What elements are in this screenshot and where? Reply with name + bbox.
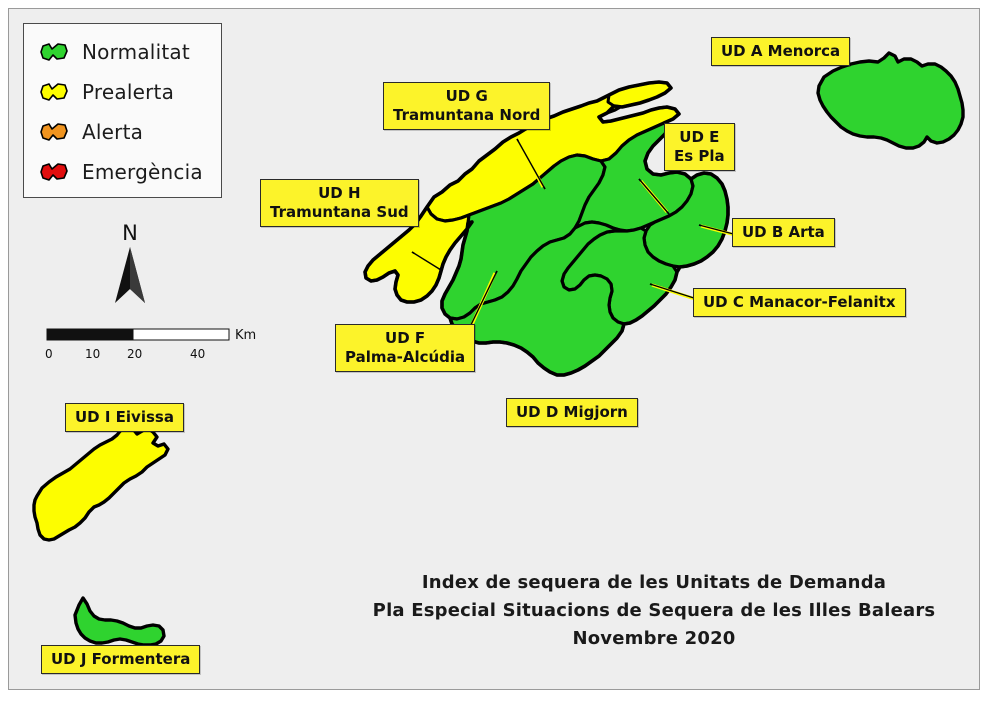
region-ud-a-menorca[interactable] bbox=[818, 53, 963, 148]
legend-item-normalitat: Normalitat bbox=[24, 32, 221, 72]
map-label-ud-c-manacor-felanitx[interactable]: UD C Manacor-Felanitx bbox=[693, 288, 906, 317]
legend-item-prealerta: Prealerta bbox=[24, 72, 221, 112]
polygon-swatch-icon bbox=[40, 81, 70, 103]
map-label-line1: UD A Menorca bbox=[721, 42, 840, 60]
map-label-line1: UD I Eivissa bbox=[75, 408, 174, 426]
map-label-line1: UD D Migjorn bbox=[516, 403, 628, 421]
map-label-ud-f-palma-alcudia[interactable]: UD F Palma-Alcúdia bbox=[335, 324, 475, 372]
map-label-line2: Es Pla bbox=[674, 147, 725, 166]
polygon-swatch-icon bbox=[40, 41, 70, 63]
map-label-line1: UD E bbox=[679, 128, 719, 146]
map-label-ud-i-eivissa[interactable]: UD I Eivissa bbox=[65, 403, 184, 432]
legend-label-normalitat: Normalitat bbox=[82, 40, 190, 64]
map-label-line2: Tramuntana Nord bbox=[393, 106, 540, 125]
map-label-ud-d-migjorn[interactable]: UD D Migjorn bbox=[506, 398, 638, 427]
map-label-line1: UD H bbox=[318, 184, 360, 202]
polygon-swatch-icon bbox=[40, 161, 70, 183]
map-label-ud-j-formentera[interactable]: UD J Formentera bbox=[41, 645, 200, 674]
scale-unit-label: Km bbox=[235, 328, 256, 343]
legend-label-prealerta: Prealerta bbox=[82, 80, 174, 104]
region-ud-i-eivissa[interactable] bbox=[34, 427, 168, 540]
map-label-line1: UD F bbox=[385, 329, 425, 347]
map-label-line1: UD C Manacor-Felanitx bbox=[703, 293, 896, 311]
scale-tick-0: 0 bbox=[45, 347, 53, 361]
scale-tick-10: 10 bbox=[85, 347, 100, 361]
title-line-3: Novembre 2020 bbox=[339, 625, 969, 653]
legend-panel: Normalitat Prealerta Alerta Emergència bbox=[23, 23, 222, 198]
scale-bar-labels: 0 10 20 40 Km bbox=[45, 327, 245, 367]
scale-tick-20: 20 bbox=[127, 347, 142, 361]
north-arrow-icon bbox=[95, 223, 165, 315]
legend-label-alerta: Alerta bbox=[82, 120, 143, 144]
scale-tick-40: 40 bbox=[190, 347, 205, 361]
map-label-line1: UD G bbox=[446, 87, 488, 105]
legend-label-emergencia: Emergència bbox=[82, 160, 203, 184]
map-label-ud-e-es-pla[interactable]: UD E Es Pla bbox=[664, 123, 735, 171]
region-ud-j-formentera[interactable] bbox=[75, 598, 164, 645]
map-label-line2: Palma-Alcúdia bbox=[345, 348, 465, 367]
map-label-line2: Tramuntana Sud bbox=[270, 203, 409, 222]
title-line-1: Index de sequera de les Unitats de Deman… bbox=[339, 569, 969, 597]
legend-item-alerta: Alerta bbox=[24, 112, 221, 152]
map-label-line1: UD J Formentera bbox=[51, 650, 190, 668]
polygon-swatch-icon bbox=[40, 121, 70, 143]
map-label-line1: UD B Arta bbox=[742, 223, 825, 241]
map-label-ud-h-tramuntana-sud[interactable]: UD H Tramuntana Sud bbox=[260, 179, 419, 227]
map-title-block: Index de sequera de les Unitats de Deman… bbox=[339, 569, 969, 653]
map-label-ud-b-arta[interactable]: UD B Arta bbox=[732, 218, 835, 247]
map-canvas[interactable]: Normalitat Prealerta Alerta Emergència bbox=[8, 8, 980, 690]
legend-item-emergencia: Emergència bbox=[24, 152, 221, 192]
title-line-2: Pla Especial Situacions de Sequera de le… bbox=[339, 597, 969, 625]
map-label-ud-a-menorca[interactable]: UD A Menorca bbox=[711, 37, 850, 66]
map-label-ud-g-tramuntana-nord[interactable]: UD G Tramuntana Nord bbox=[383, 82, 550, 130]
map-page: Normalitat Prealerta Alerta Emergència bbox=[0, 0, 1000, 708]
